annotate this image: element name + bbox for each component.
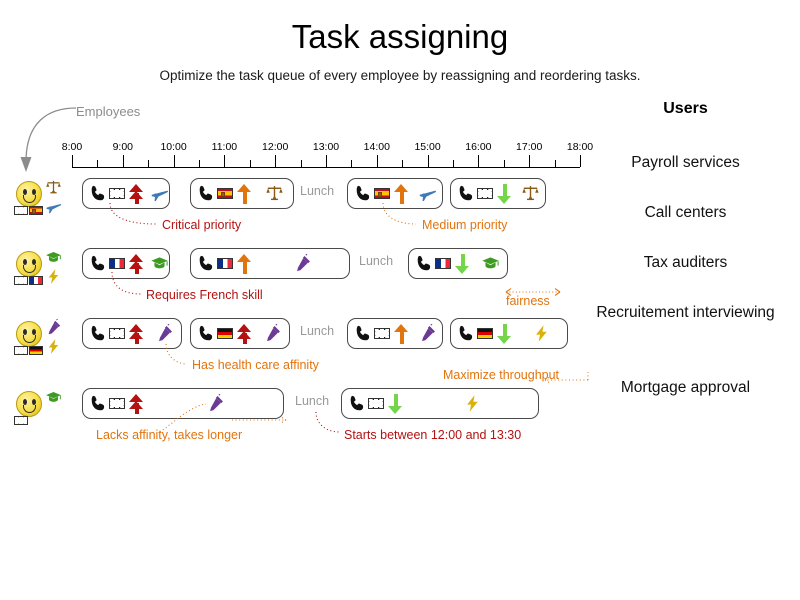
annotation-starts-between: Starts between 12:00 and 13:30 bbox=[344, 428, 521, 442]
annotation-medium-priority: Medium priority bbox=[422, 218, 507, 232]
task-assigning-diagram: Task assigning Optimize the task queue o… bbox=[0, 0, 800, 600]
user-item[interactable]: Call centers bbox=[578, 200, 793, 226]
annotation-maximize-throughput: Maximize throughput bbox=[443, 368, 559, 382]
user-item[interactable]: Payroll services bbox=[578, 150, 793, 176]
users-title: Users bbox=[578, 100, 793, 118]
annotation-requires-french-skill: Requires French skill bbox=[146, 288, 263, 302]
annotation-lacks-affinity-takes-longer: Lacks affinity, takes longer bbox=[96, 428, 242, 442]
user-item[interactable]: Recruitement interviewing bbox=[578, 300, 793, 326]
annotation-has-health-care-affinity: Has health care affinity bbox=[192, 358, 319, 372]
annotation-fairness: fairness bbox=[506, 294, 550, 308]
annotation-critical-priority: Critical priority bbox=[162, 218, 241, 232]
user-item[interactable]: Tax auditers bbox=[578, 250, 793, 276]
user-item[interactable]: Mortgage approval bbox=[578, 375, 793, 401]
